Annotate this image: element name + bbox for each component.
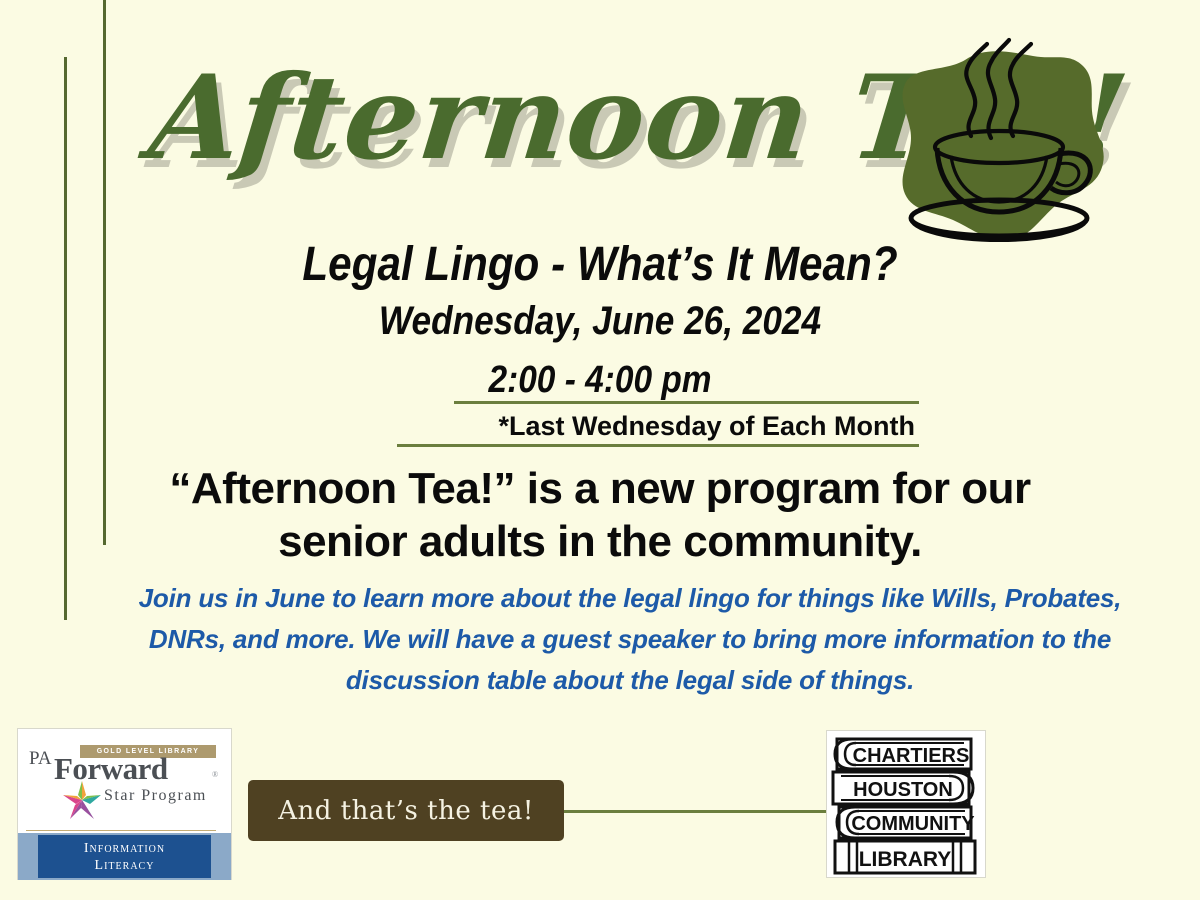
- teacup-icon: [893, 22, 1115, 250]
- program-statement: “Afternoon Tea!” is a new program for ou…: [150, 462, 1050, 568]
- headline-program-title: Legal Lingo - What’s It Mean?: [72, 238, 1128, 292]
- headline-time: 2:00 - 4:00 pm: [72, 358, 1128, 402]
- program-description: Join us in June to learn more about the …: [120, 578, 1140, 701]
- literacy-band-line-1: Information: [84, 840, 165, 857]
- recurrence-note: *Last Wednesday of Each Month: [0, 410, 1200, 442]
- library-book-label-1: CHARTIERS: [853, 745, 970, 767]
- pa-forward-logo-top: PA GOLD LEVEL LIBRARY Forward ®: [18, 729, 231, 829]
- tea-tagline-banner: And that’s the tea!: [248, 780, 564, 841]
- library-book-label-3: COMMUNITY: [851, 813, 975, 835]
- decorative-vertical-rule-outer: [64, 57, 67, 620]
- library-book-label-2: HOUSTON: [853, 779, 953, 801]
- page-title-script: Afternoon Tea!: [141, 38, 899, 213]
- headline-date: Wednesday, June 26, 2024: [72, 298, 1128, 344]
- pa-forward-divider: [26, 830, 216, 831]
- separator-rule-bottom: [397, 444, 919, 447]
- flyer-canvas: Afternoon Tea! Legal Lingo - What’s It M…: [0, 0, 1200, 900]
- pa-forward-logo: PA GOLD LEVEL LIBRARY Forward ®: [17, 728, 232, 880]
- star-icon: [61, 779, 103, 821]
- pa-forward-star-program-text: Star Program: [104, 787, 207, 805]
- separator-rule-top: [454, 401, 919, 404]
- tea-tagline-text: And that’s the tea!: [278, 796, 534, 826]
- registered-trademark-icon: ®: [212, 770, 218, 779]
- book-stack-icon: CHARTIERS HOUSTON COMMUNITY LIBRARY: [826, 730, 986, 878]
- library-book-label-4: LIBRARY: [859, 848, 952, 871]
- connector-line: [555, 810, 845, 813]
- pa-forward-pa-text: PA: [29, 748, 52, 770]
- pa-forward-literacy-band: Information Literacy: [18, 833, 231, 880]
- literacy-band-line-2: Literacy: [95, 857, 155, 874]
- pa-forward-literacy-band-inner: Information Literacy: [38, 835, 211, 878]
